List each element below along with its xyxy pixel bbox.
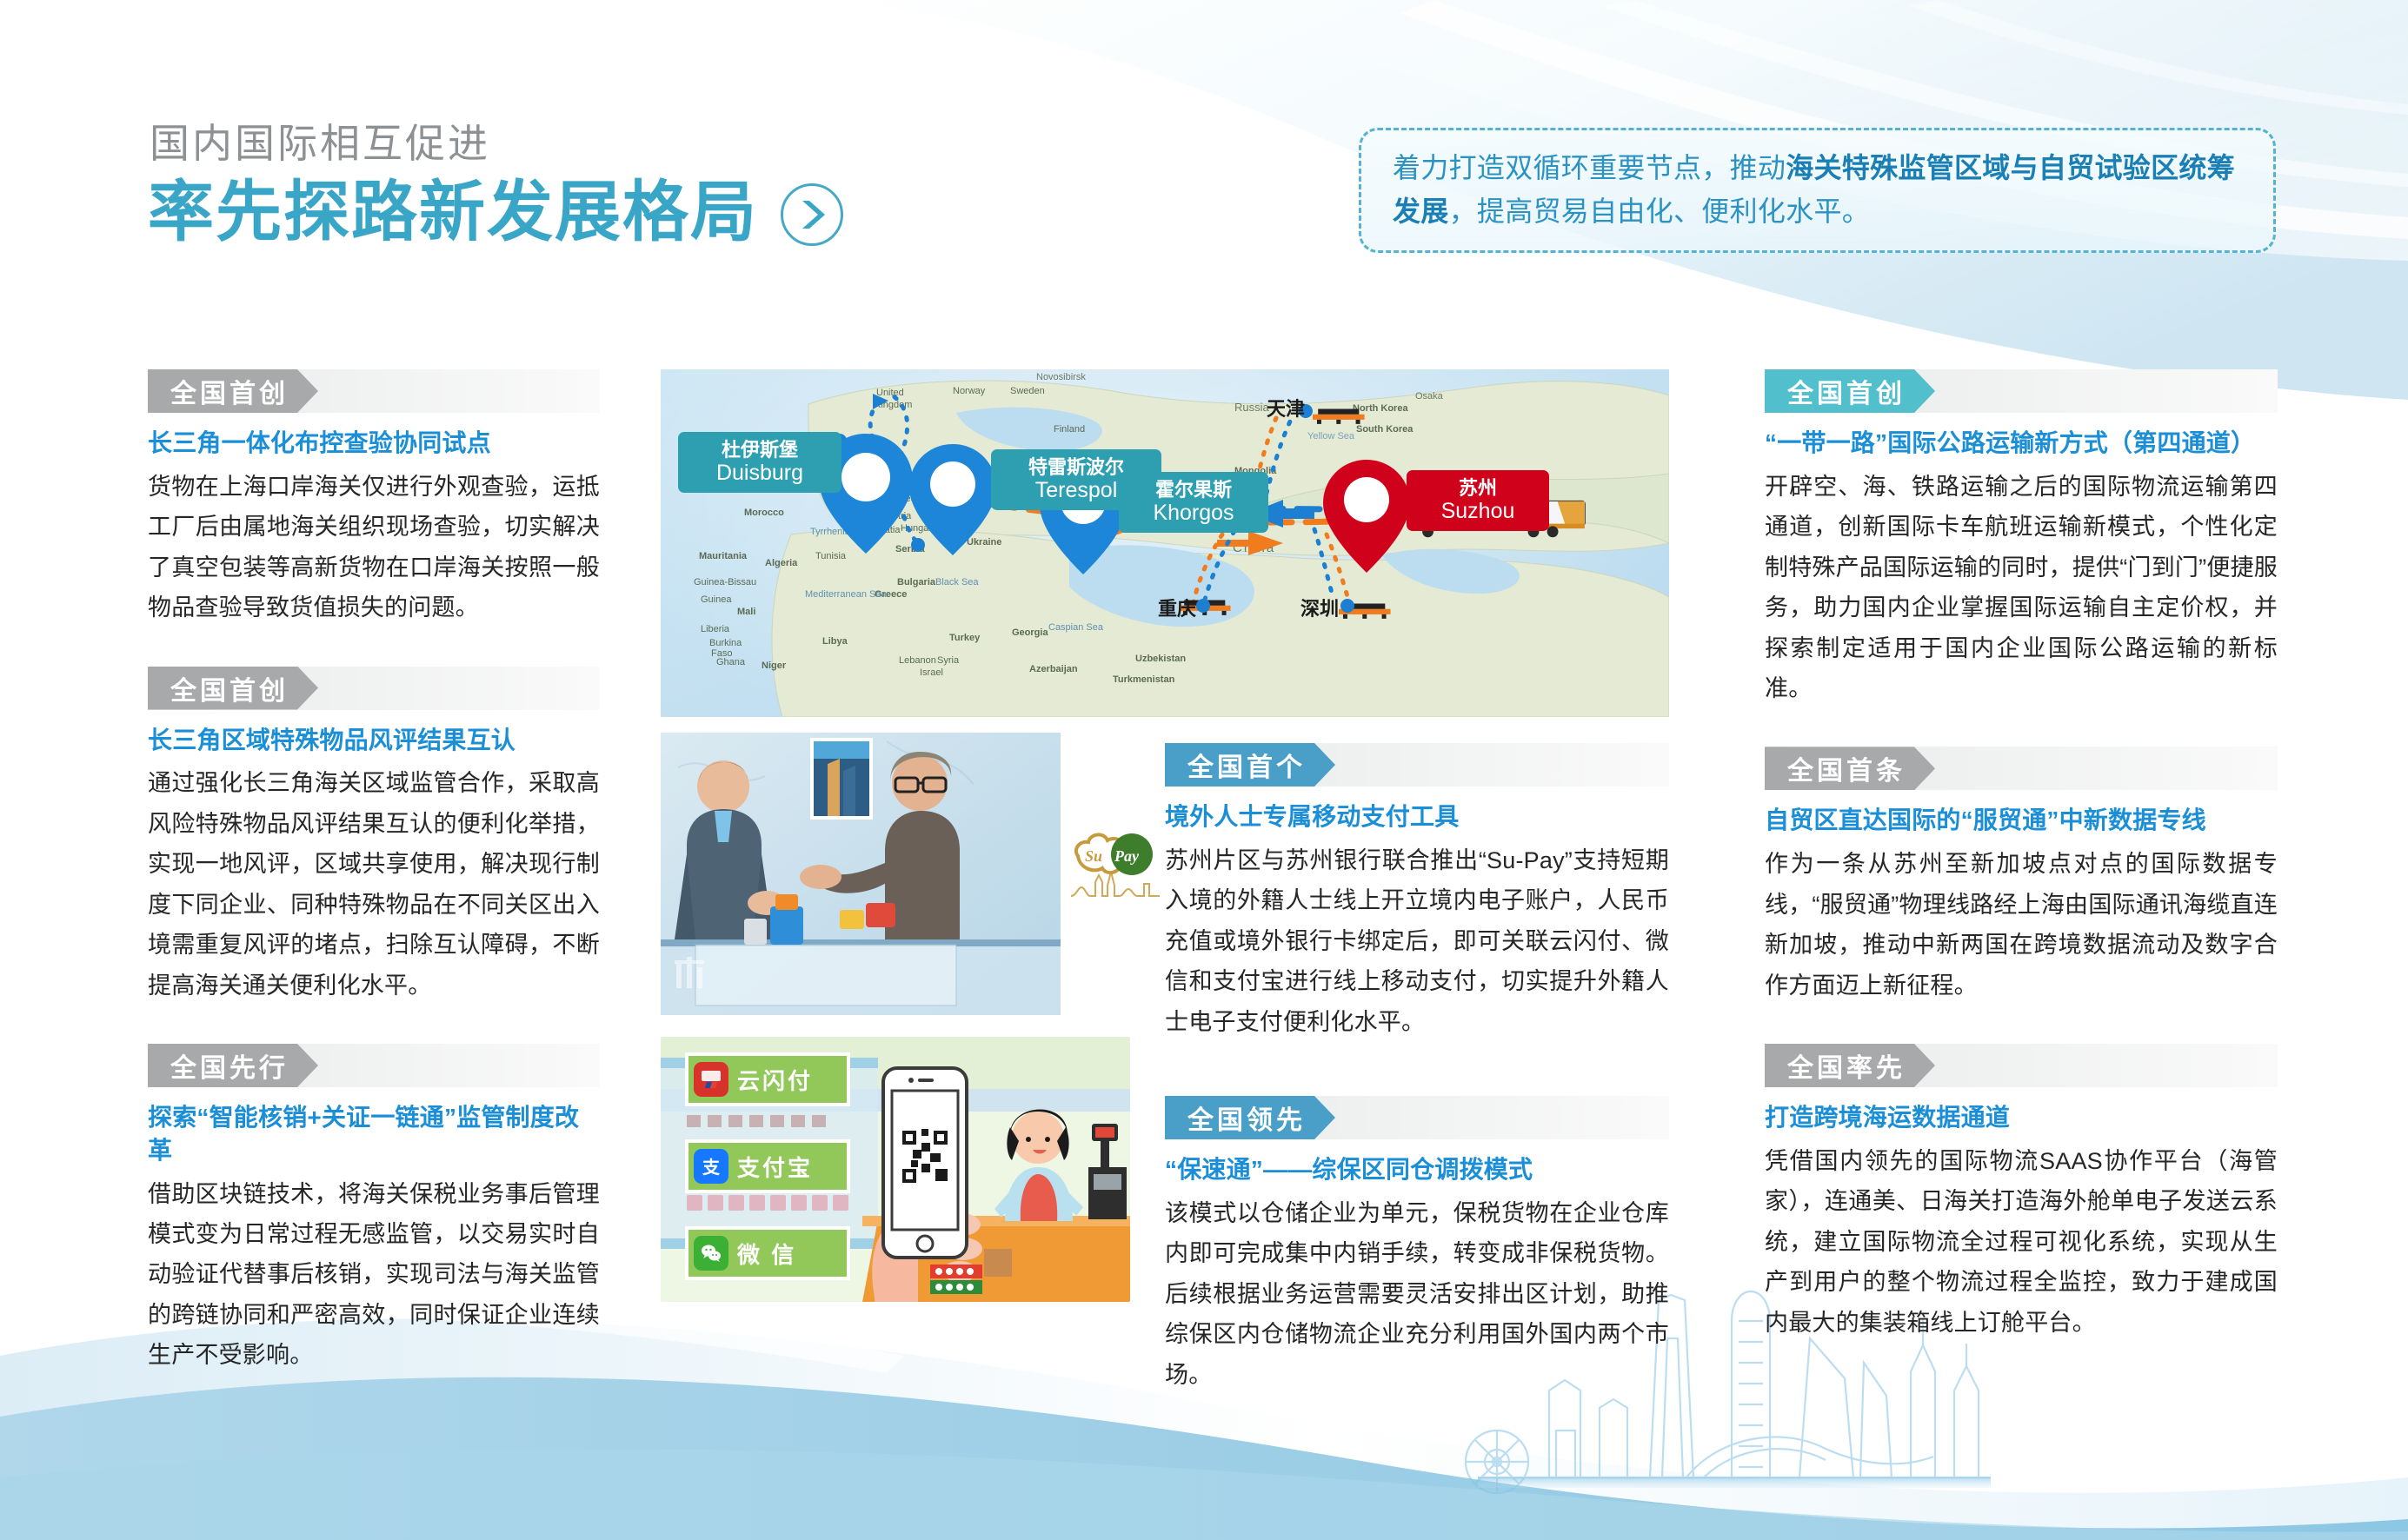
callout-text-part1: 着力打造双循环重要节点，推动 [1393, 152, 1786, 183]
page-title: 率先探路新发展格局 [148, 178, 758, 248]
card-right-1: 全国首创 “一带一路”国际公路运输新方式（第四通道） 开辟空、海、铁路运输之后的… [1765, 369, 2278, 708]
card-title: “保速通”——综保区同仓调拨模式 [1165, 1153, 1669, 1186]
badge-wrap: 全国先行 [148, 1044, 600, 1087]
card-body: 该模式以仓储企业为单元，保税货物在企业仓库内即可完成集中内销手续，转变成非保税货… [1165, 1193, 1669, 1395]
svg-text:Mauritania: Mauritania [699, 551, 748, 561]
middle-column: 全国首个 境外人士专属移动支付工具 苏州片区与苏州银行联合推出“Su-Pay”支… [1165, 369, 1669, 1433]
badge-wrap: 全国首创 [148, 667, 600, 710]
svg-text:Lebanon: Lebanon [899, 655, 936, 666]
card-right-2: 全国首条 自贸区直达国际的“服贸通”中新数据专线 作为一条从苏州至新加坡点对点的… [1765, 747, 2278, 1006]
svg-text:United: United [876, 388, 904, 398]
svg-text:Guinea-Bissau: Guinea-Bissau [694, 577, 756, 587]
paytag-unionpay: 云闪付 [685, 1052, 850, 1106]
supay-logo: Su Pay [1069, 830, 1165, 899]
card-mid-1: 全国首个 境外人士专属移动支付工具 苏州片区与苏州银行联合推出“Su-Pay”支… [1165, 743, 1669, 1042]
svg-text:Finland: Finland [1054, 424, 1085, 435]
card-body: 作为一条从苏州至新加坡点对点的国际数据专线，“服贸通”物理线路经上海由国际通讯海… [1765, 844, 2278, 1006]
status-badge: 全国先行 [148, 1044, 318, 1087]
wechat-icon [694, 1236, 728, 1271]
status-badge: 全国首创 [148, 369, 318, 413]
card-title: 自贸区直达国际的“服贸通”中新数据专线 [1765, 804, 2278, 837]
svg-text:Bulgaria: Bulgaria [897, 577, 936, 587]
svg-text:Ukraine: Ukraine [967, 537, 1001, 548]
header-kicker: 国内国际相互促进 [150, 122, 843, 166]
card-title: 探索“智能核销+关证一链通”监管制度改革 [148, 1101, 600, 1167]
badge-wrap: 全国首创 [1765, 369, 2278, 413]
status-badge: 全国领先 [1165, 1096, 1335, 1139]
svg-text:Georgia: Georgia [1012, 627, 1048, 638]
card-left-3: 全国先行 探索“智能核销+关证一链通”监管制度改革 借助区块链技术，将海关保税业… [148, 1044, 600, 1376]
chevron-right-icon[interactable] [781, 183, 843, 246]
badge-wrap: 全国领先 [1165, 1096, 1669, 1139]
highlight-callout: 着力打造双循环重要节点，推动海关特殊监管区域与自贸试验区统筹发展，提高贸易自由化… [1359, 128, 2276, 253]
card-body: 苏州片区与苏州银行联合推出“Su-Pay”支持短期入境的外籍人士线上开立境内电子… [1165, 840, 1669, 1042]
svg-text:Tunisia: Tunisia [815, 551, 847, 561]
card-left-2: 全国首创 长三角区域特殊物品风评结果互认 通过强化长三角海关区域监管合作，采取高… [148, 667, 600, 1006]
svg-text:Algeria: Algeria [765, 558, 798, 568]
svg-text:支: 支 [702, 1157, 721, 1178]
paytag-label: 微 信 [737, 1238, 796, 1270]
badge-wrap: 全国首条 [1765, 747, 2278, 790]
badge-wrap: 全国首个 [1165, 743, 1669, 787]
card-left-1: 全国首创 长三角一体化布控查验协同试点 货物在上海口岸海关仅进行外观查验，运抵工… [148, 369, 600, 628]
card-title: 长三角区域特殊物品风评结果互认 [148, 724, 600, 757]
page-header: 国内国际相互促进 率先探路新发展格局 [148, 122, 843, 247]
callout-text: 着力打造双循环重要节点，推动海关特殊监管区域与自贸试验区统筹发展，提高贸易自由化… [1393, 147, 2242, 233]
map-label-duisburg: 杜伊斯堡 Duisburg [678, 432, 841, 493]
badge-wrap: 全国首创 [148, 369, 600, 413]
paytag-alipay: 支 支付宝 [685, 1139, 850, 1193]
svg-text:Faso: Faso [711, 648, 732, 659]
svg-text:Morocco: Morocco [744, 508, 784, 518]
paytag-label: 云闪付 [737, 1064, 813, 1096]
svg-text:Mediterranean Sea: Mediterranean Sea [805, 589, 887, 600]
status-badge: 全国首个 [1165, 743, 1335, 787]
svg-text:Liberia: Liberia [701, 624, 730, 634]
alipay-icon: 支 [694, 1149, 728, 1184]
status-badge: 全国首创 [148, 667, 318, 710]
svg-text:Black Sea: Black Sea [935, 577, 979, 587]
status-badge: 全国率先 [1765, 1044, 1935, 1087]
unionpay-icon [694, 1062, 728, 1097]
card-mid-2: 全国领先 “保速通”——综保区同仓调拨模式 该模式以仓储企业为单元，保税货物在企… [1165, 1096, 1669, 1395]
svg-text:Turkey: Turkey [949, 633, 981, 643]
map-label-en: Duisburg [716, 461, 803, 485]
svg-text:Su: Su [1085, 847, 1102, 865]
svg-text:Caspian Sea: Caspian Sea [1048, 622, 1104, 633]
card-right-3: 全国率先 打造跨境海运数据通道 凭借国内领先的国际物流SAAS协作平台（海管家）… [1765, 1044, 2278, 1343]
mobile-payment-illustration: 云闪付 支 支付宝 微 信 [661, 1037, 1130, 1302]
card-body: 凭借国内领先的国际物流SAAS协作平台（海管家），连通美、日海关打造海外舱单电子… [1765, 1141, 2278, 1343]
supay-logo-icon: Su Pay [1069, 830, 1165, 899]
svg-text:Norway: Norway [953, 386, 986, 396]
svg-text:Burkina: Burkina [709, 638, 742, 648]
svg-text:Israel: Israel [920, 667, 943, 678]
card-body: 货物在上海口岸海关仅进行外观查验，运抵工厂后由属地海关组织现场查验，切实解决了真… [148, 467, 600, 628]
left-column: 全国首创 长三角一体化布控查验协同试点 货物在上海口岸海关仅进行外观查验，运抵工… [148, 369, 600, 1414]
map-label-en: Terespol [1035, 478, 1118, 502]
supay-photo [661, 733, 1061, 1015]
infographic-page: 国内国际相互促进 率先探路新发展格局 着力打造双循环重要节点，推动海关特殊监管区… [0, 0, 2408, 1540]
card-title: 长三角一体化布控查验协同试点 [148, 427, 600, 460]
card-body: 借助区块链技术，将海关保税业务事后管理模式变为日常过程无感监管，以交易实时自动验… [148, 1174, 600, 1376]
svg-text:Azerbaijan: Azerbaijan [1029, 664, 1078, 674]
svg-text:Novosibirsk: Novosibirsk [1036, 372, 1086, 382]
photo-illustration [661, 733, 1061, 1015]
card-title: 境外人士专属移动支付工具 [1165, 800, 1669, 833]
svg-text:Guinea: Guinea [701, 594, 732, 605]
svg-text:Niger: Niger [762, 660, 787, 671]
status-badge: 全国首创 [1765, 369, 1935, 413]
svg-text:Syria: Syria [937, 655, 960, 666]
svg-text:Pay: Pay [1114, 847, 1140, 865]
card-title: “一带一路”国际公路运输新方式（第四通道） [1765, 427, 2278, 460]
svg-text:Mali: Mali [737, 607, 755, 617]
card-title: 打造跨境海运数据通道 [1765, 1101, 2278, 1134]
card-body: 开辟空、海、铁路运输之后的国际物流运输第四通道，创新国际卡车航班运输新模式，个性… [1765, 467, 2278, 709]
map-label-cn: 特雷斯波尔 [1028, 457, 1124, 479]
paytag-label: 支付宝 [737, 1151, 813, 1183]
svg-text:Libya: Libya [822, 636, 848, 647]
map-label-cn: 杜伊斯堡 [722, 440, 798, 461]
card-body: 通过强化长三角海关区域监管合作，采取高风险特殊物品风评结果互认的便利化举措，实现… [148, 763, 600, 1006]
badge-wrap: 全国率先 [1765, 1044, 2278, 1087]
callout-text-part2: ，提高贸易自由化、便利化水平。 [1449, 196, 1871, 227]
right-column: 全国首创 “一带一路”国际公路运输新方式（第四通道） 开辟空、海、铁路运输之后的… [1765, 369, 2278, 1381]
status-badge: 全国首条 [1765, 747, 1935, 790]
svg-text:Sweden: Sweden [1010, 386, 1045, 396]
paytag-wechat: 微 信 [685, 1226, 850, 1280]
